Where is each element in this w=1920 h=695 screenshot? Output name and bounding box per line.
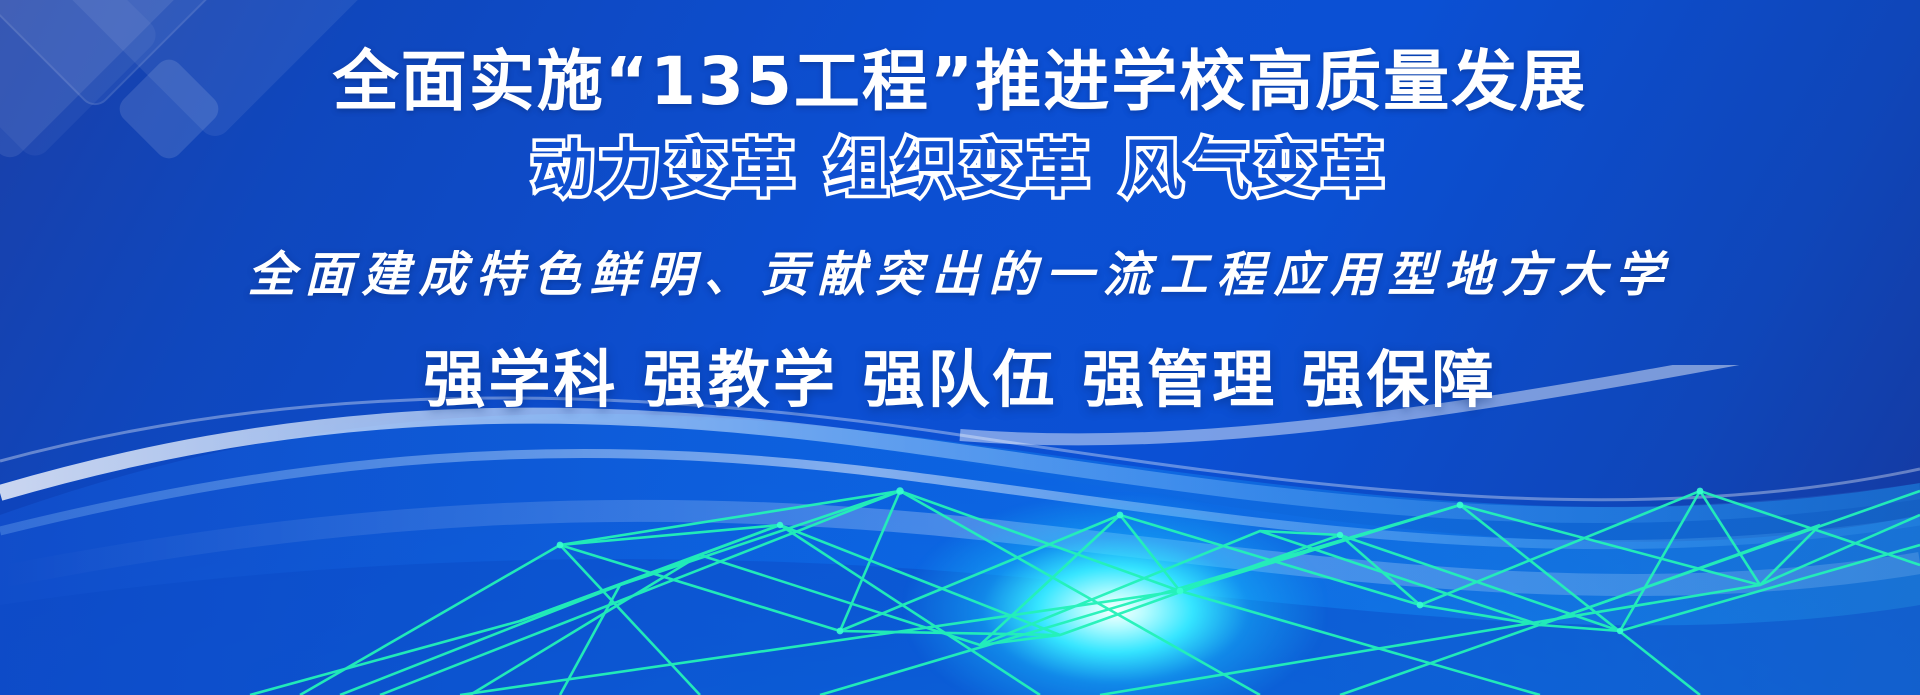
banner-text-stack: 全面实施“135工程”推进学校高质量发展 动力变革 组织变革 风气变革 全面建成… (0, 0, 1920, 695)
slogan-line: 强学科 强教学 强队伍 强管理 强保障 (423, 346, 1496, 414)
banner-root: 全面实施“135工程”推进学校高质量发展 动力变革 组织变革 风气变革 全面建成… (0, 0, 1920, 695)
subhead-outline: 动力变革 组织变革 风气变革 (531, 135, 1388, 203)
vision-statement: 全面建成特色鲜明、贡献突出的一流工程应用型地方大学 (247, 249, 1672, 302)
headline: 全面实施“135工程”推进学校高质量发展 (333, 46, 1588, 117)
